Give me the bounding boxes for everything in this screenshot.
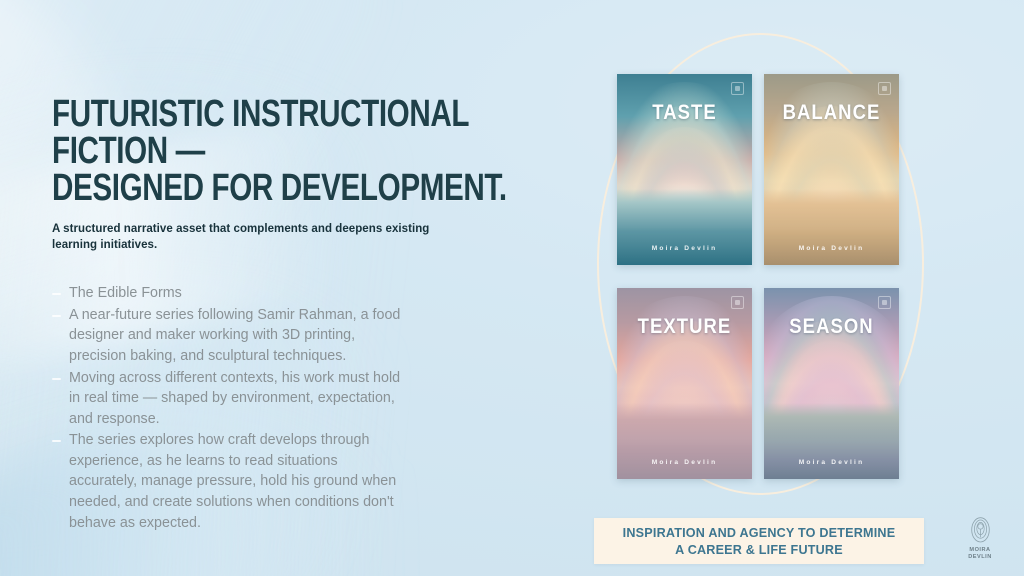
book-cover-taste[interactable]: TASTE Moira Devlin [617,74,752,265]
list-item-text: A near-future series following Samir Rah… [69,305,402,367]
book-cover-texture[interactable]: TEXTURE Moira Devlin [617,288,752,479]
book-cover-season[interactable]: SEASON Moira Devlin [764,288,899,479]
dash-bullet-icon [52,315,61,317]
text-column: FUTURISTIC INSTRUCTIONAL FICTION — DESIG… [52,96,522,534]
cover-author: Moira Devlin [764,245,899,252]
page-title: FUTURISTIC INSTRUCTIONAL FICTION — DESIG… [52,96,520,207]
cover-row-bottom: TEXTURE Moira Devlin SEASON Moira Devlin [617,288,899,479]
brand-logo: MOIRA DEVLIN [958,516,1002,566]
cover-badge-icon [731,296,744,309]
cover-title: SEASON [772,315,891,339]
page-subtitle: A structured narrative asset that comple… [52,221,462,254]
list-item: A near-future series following Samir Rah… [52,305,402,367]
cover-title: TEXTURE [625,315,744,339]
logo-mark-icon [967,516,994,545]
cover-author: Moira Devlin [617,245,752,252]
list-item-text: Moving across different contexts, his wo… [69,368,402,430]
book-cover-balance[interactable]: BALANCE Moira Devlin [764,74,899,265]
cover-badge-icon [731,82,744,95]
cover-badge-icon [878,82,891,95]
book-cover-grid: TASTE Moira Devlin BALANCE Moira Devlin [617,74,899,502]
dash-bullet-icon [52,440,61,442]
cover-author: Moira Devlin [764,459,899,466]
list-item-text: The series explores how craft develops t… [69,430,402,533]
dash-bullet-icon [52,293,61,295]
cover-title: TASTE [625,101,744,125]
list-item-text: The Edible Forms [69,283,182,304]
cover-title: BALANCE [772,101,891,125]
logo-text: MOIRA DEVLIN [968,547,992,561]
tagline-line-2: A CAREER & LIFE FUTURE [675,543,843,557]
logo-text-line-1: MOIRA [969,547,990,553]
logo-text-line-2: DEVLIN [968,554,992,560]
cover-badge-icon [878,296,891,309]
tagline-line-1: INSPIRATION AND AGENCY TO DETERMINE [623,526,896,540]
cover-row-top: TASTE Moira Devlin BALANCE Moira Devlin [617,74,899,265]
list-item: Moving across different contexts, his wo… [52,368,402,430]
list-item: The Edible Forms [52,283,402,304]
dash-bullet-icon [52,378,61,380]
bullet-list: The Edible Forms A near-future series fo… [52,283,402,533]
tagline-banner: INSPIRATION AND AGENCY TO DETERMINE A CA… [594,518,924,564]
cover-author: Moira Devlin [617,459,752,466]
list-item: The series explores how craft develops t… [52,430,402,533]
slide-canvas: FUTURISTIC INSTRUCTIONAL FICTION — DESIG… [0,0,1024,576]
